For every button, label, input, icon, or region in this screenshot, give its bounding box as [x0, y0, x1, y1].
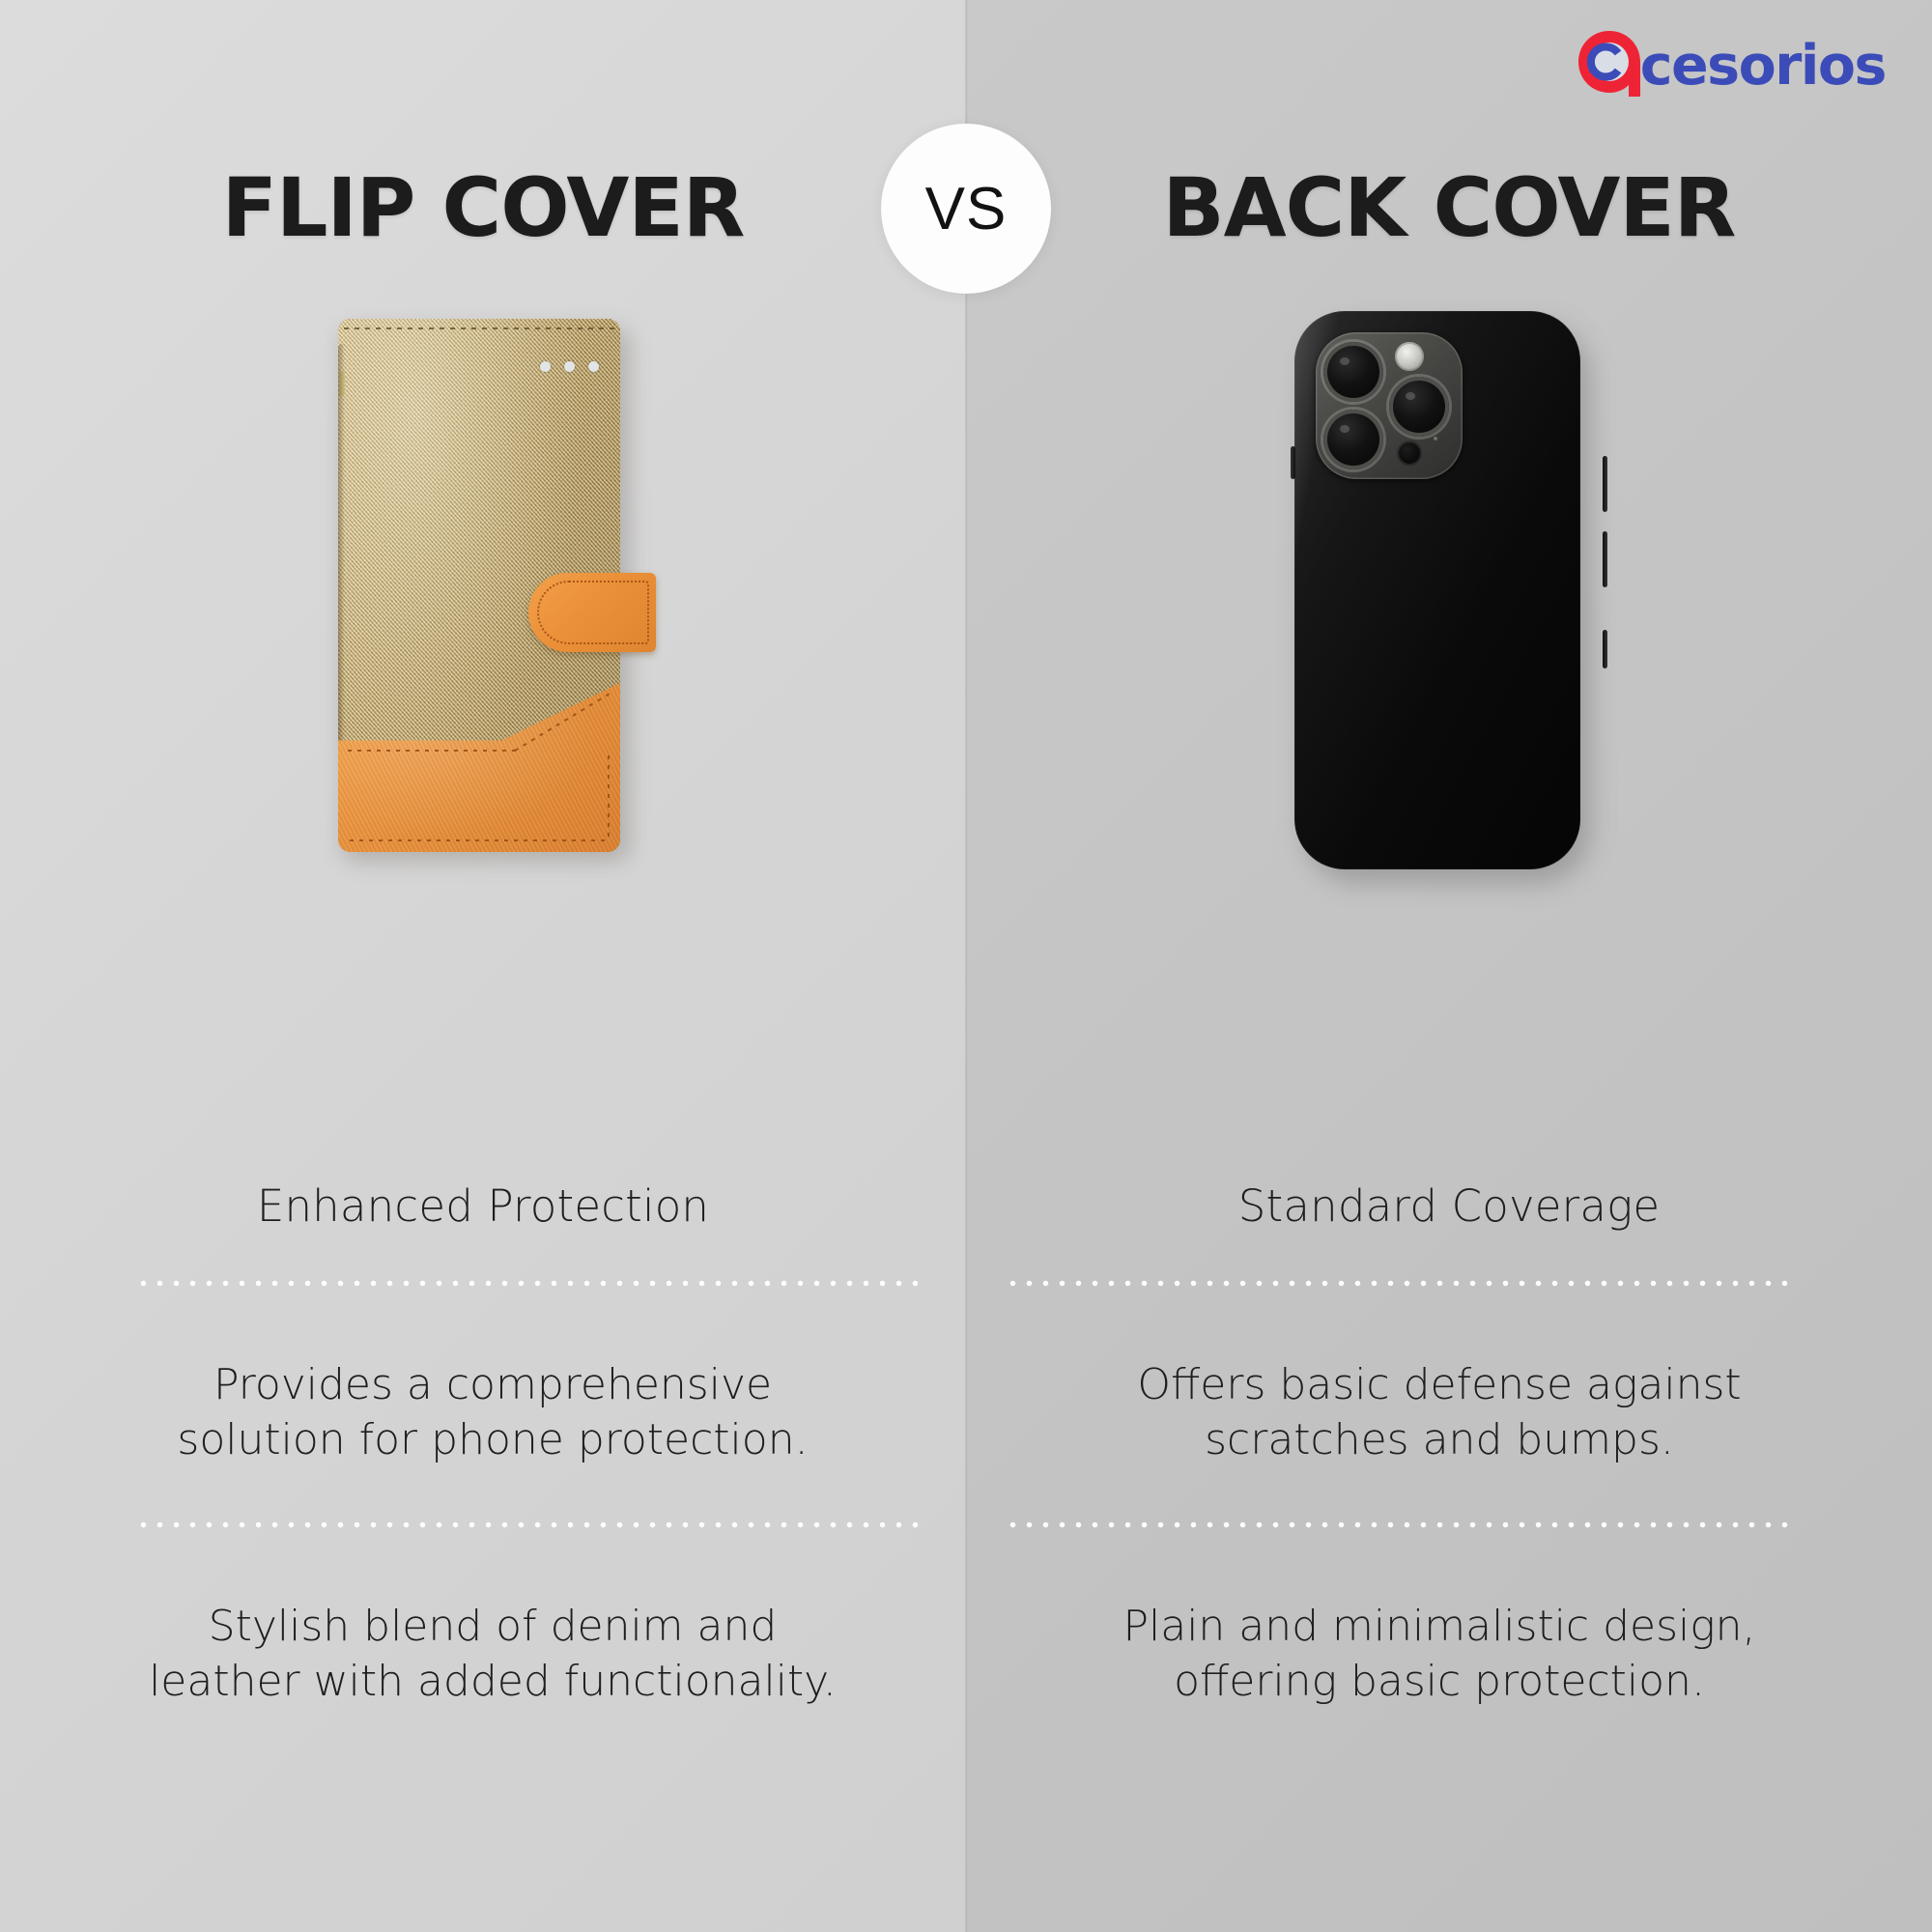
- camera-lens-wide: [1323, 342, 1383, 402]
- top-stitch-line: [344, 327, 614, 329]
- product-stage-flip-cover: [0, 319, 966, 918]
- dotted-divider-top: [1005, 1280, 1797, 1287]
- camera-dot: [564, 361, 575, 372]
- volume-down-button-cutout: [1603, 531, 1607, 587]
- power-button-cutout: [1603, 630, 1607, 668]
- feature-text-back-1: Offers basic defense against scratches a…: [966, 1357, 1932, 1467]
- headline-back-cover: Standard Coverage: [966, 1180, 1932, 1232]
- camera-module: [1316, 332, 1463, 479]
- vs-badge-label: VS: [925, 175, 1008, 243]
- column-title-flip-cover: FLIP COVER: [0, 160, 966, 255]
- camera-dot: [588, 361, 599, 372]
- camera-dot: [540, 361, 551, 372]
- camera-cutout-dots: [540, 361, 599, 372]
- dotted-divider-bottom: [1005, 1521, 1797, 1528]
- magnetic-clasp-strap: [528, 573, 656, 652]
- product-stage-back-cover: [966, 319, 1932, 918]
- dotted-divider-bottom: [135, 1521, 927, 1528]
- vs-badge: VS: [881, 124, 1051, 294]
- volume-up-button-cutout: [1603, 456, 1607, 512]
- cover-hinge: [339, 371, 345, 396]
- leather-stitch-bottom: [350, 839, 609, 841]
- action-button-cutout: [1291, 446, 1295, 479]
- leather-stitch-top: [348, 750, 520, 752]
- camera-flash-icon: [1395, 342, 1424, 371]
- headline-flip-cover: Enhanced Protection: [0, 1180, 966, 1232]
- lidar-sensor-icon: [1397, 440, 1422, 466]
- back-cover-body: [1294, 311, 1580, 869]
- camera-lens-ultrawide: [1323, 410, 1383, 469]
- flip-cover-product-image: [338, 319, 628, 860]
- column-title-back-cover: BACK COVER: [966, 160, 1932, 255]
- feature-text-flip-2: Stylish blend of denim and leather with …: [0, 1599, 966, 1709]
- leather-stitch-right: [608, 755, 610, 840]
- camera-lens-telephoto: [1389, 377, 1449, 437]
- feature-text-back-2: Plain and minimalistic design, offering …: [966, 1599, 1932, 1709]
- column-back-cover: BACK COVER: [966, 0, 1932, 1932]
- microphone-dot-icon: [1434, 437, 1437, 440]
- column-flip-cover: FLIP COVER: [0, 0, 966, 1932]
- dotted-divider-top: [135, 1280, 927, 1287]
- back-cover-product-image: [1294, 311, 1604, 891]
- infographic-canvas: cesorios FLIP COVER: [0, 0, 1932, 1932]
- feature-text-flip-1: Provides a comprehensive solution for ph…: [0, 1357, 966, 1467]
- clasp-stitching: [537, 581, 649, 644]
